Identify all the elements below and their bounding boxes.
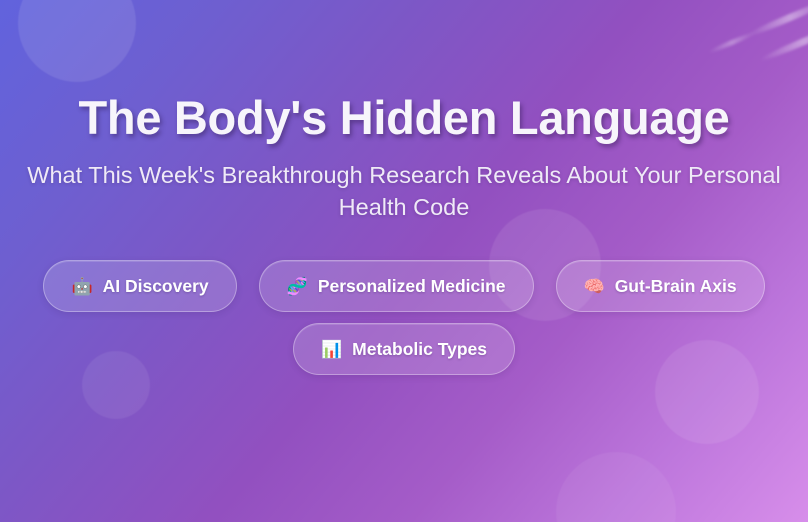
topic-tag-metabolic-types[interactable]: 📊 Metabolic Types — [293, 323, 515, 375]
topic-tag-group: 🤖 AI Discovery 🧬 Personalized Medicine 🧠… — [16, 260, 792, 375]
dna-icon: 🧬 — [287, 278, 308, 295]
bar-chart-icon: 📊 — [321, 341, 342, 358]
topic-tag-label: Personalized Medicine — [318, 276, 506, 297]
topic-tag-row: 📊 Metabolic Types — [16, 323, 792, 375]
topic-tag-label: Gut-Brain Axis — [615, 276, 737, 297]
topic-tag-label: AI Discovery — [103, 276, 209, 297]
hero-content: The Body's Hidden Language What This Wee… — [0, 0, 808, 375]
hero-banner: The Body's Hidden Language What This Wee… — [0, 0, 808, 522]
page-title: The Body's Hidden Language — [16, 0, 792, 145]
topic-tag-ai-discovery[interactable]: 🤖 AI Discovery — [43, 260, 236, 312]
topic-tag-personalized-medicine[interactable]: 🧬 Personalized Medicine — [259, 260, 534, 312]
robot-icon: 🤖 — [71, 278, 92, 295]
page-subtitle: What This Week's Breakthrough Research R… — [16, 159, 792, 224]
decorative-circle — [556, 452, 676, 522]
topic-tag-gut-brain-axis[interactable]: 🧠 Gut-Brain Axis — [556, 260, 765, 312]
brain-icon: 🧠 — [584, 278, 605, 295]
topic-tag-label: Metabolic Types — [352, 339, 487, 360]
topic-tag-row: 🤖 AI Discovery 🧬 Personalized Medicine 🧠… — [16, 260, 792, 312]
